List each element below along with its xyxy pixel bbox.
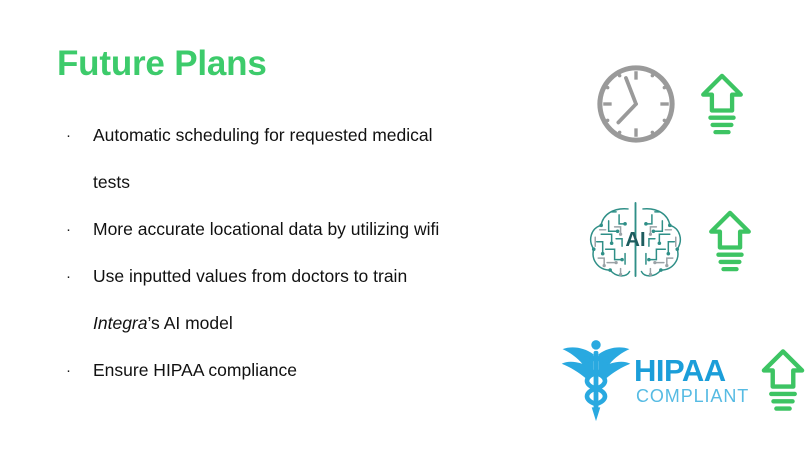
ai-brain-circuit-icon: AI — [583, 197, 688, 285]
icon-group-scheduling — [594, 62, 744, 146]
bullet-marker-icon: · — [66, 347, 93, 394]
list-item-label-line2-rest: ’s AI model — [147, 313, 232, 333]
slide-canvas: Future Plans · Automatic scheduling for … — [0, 0, 806, 453]
bullet-marker-icon: · — [66, 253, 93, 300]
list-item-label: More accurate locational data by utilizi… — [93, 206, 536, 253]
bullet-list: · Automatic scheduling for requested med… — [66, 112, 536, 394]
list-item: · More accurate locational data by utili… — [66, 206, 536, 253]
icon-group-ai: AI — [583, 197, 752, 285]
list-item: · Use inputted values from doctors to tr… — [66, 253, 536, 300]
list-item-label: Ensure HIPAA compliance — [93, 347, 536, 394]
caduceus-icon — [560, 337, 632, 423]
list-item-label-line2: tests — [93, 159, 536, 206]
list-item-continuation: tests — [66, 159, 536, 206]
hipaa-wordmark: HIPAA COMPLIANT — [634, 355, 749, 405]
icon-group-hipaa: HIPAA COMPLIANT — [560, 337, 805, 423]
list-item: · Ensure HIPAA compliance — [66, 347, 536, 394]
up-arrow-icon — [700, 73, 744, 135]
up-arrow-icon — [708, 210, 752, 272]
bullet-marker-icon: · — [66, 206, 93, 253]
list-item-label-line2: Integra’s AI model — [93, 300, 536, 347]
ai-label: AI — [625, 229, 645, 251]
up-arrow-icon — [761, 348, 805, 412]
list-item-continuation: Integra’s AI model — [66, 300, 536, 347]
hipaa-wordmark-secondary: COMPLIANT — [636, 387, 749, 405]
product-name-emphasis: Integra — [93, 313, 147, 333]
list-item-label: Automatic scheduling for requested medic… — [93, 112, 536, 159]
bullet-marker-icon: · — [66, 112, 93, 159]
page-title: Future Plans — [57, 44, 267, 84]
list-item-label: Use inputted values from doctors to trai… — [93, 253, 536, 300]
list-item: · Automatic scheduling for requested med… — [66, 112, 536, 159]
hipaa-wordmark-primary: HIPAA — [634, 355, 749, 386]
clock-icon — [594, 62, 678, 146]
hipaa-compliant-icon: HIPAA COMPLIANT — [560, 337, 749, 423]
